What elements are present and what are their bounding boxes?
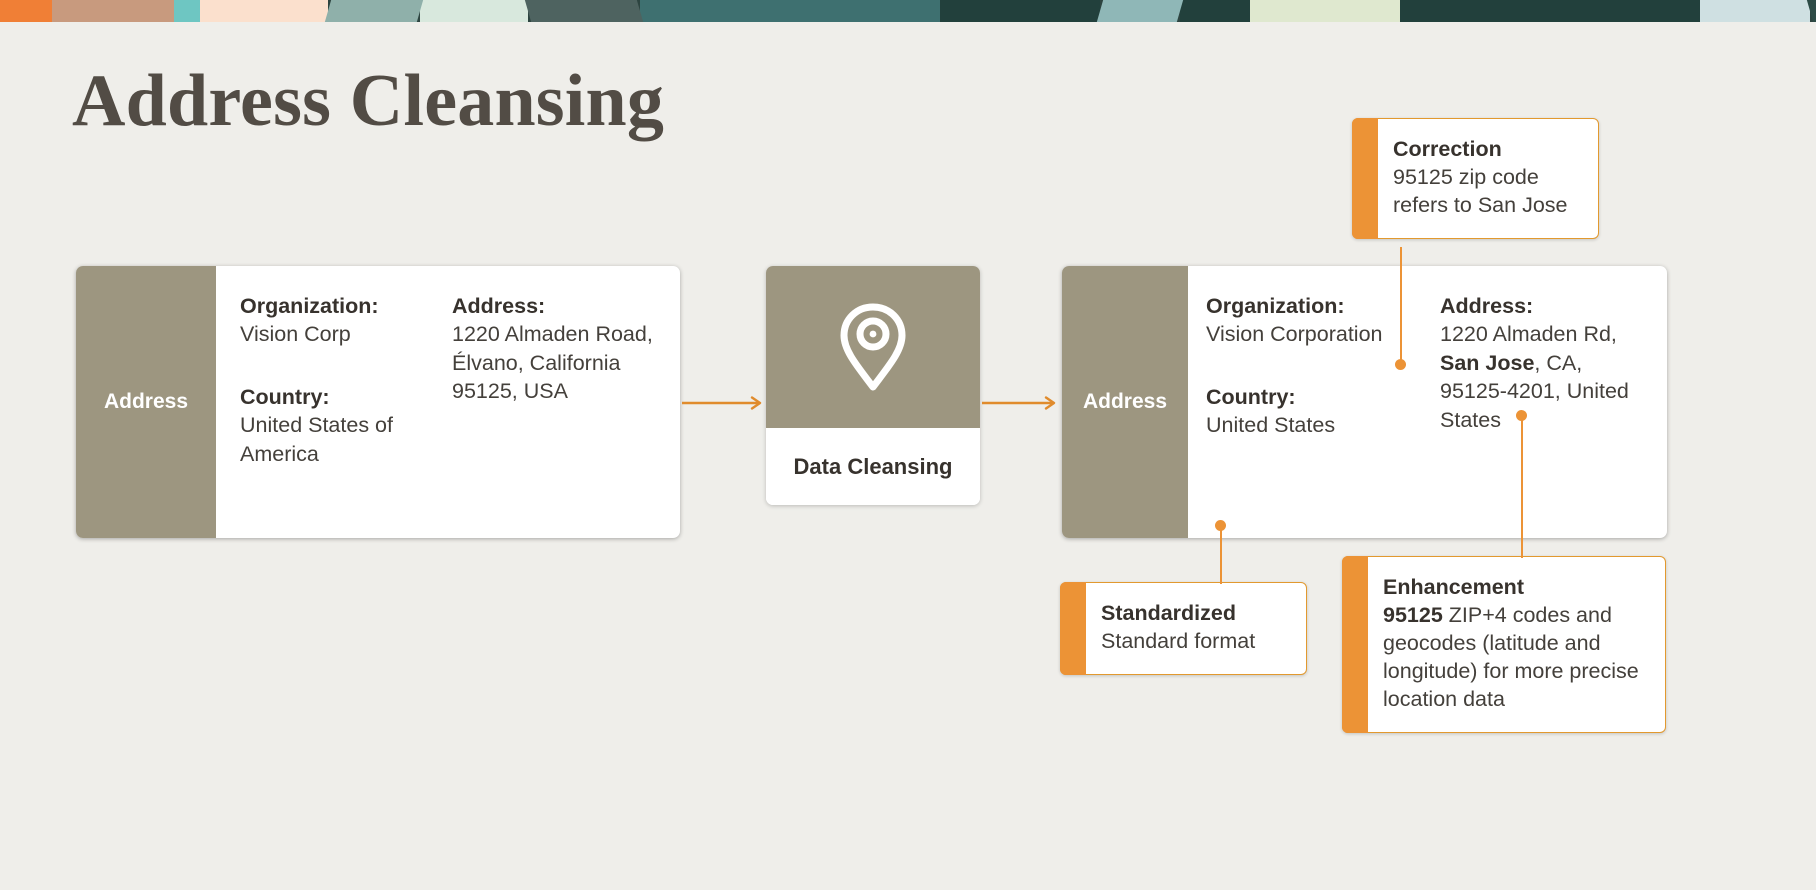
- process-icon-area: [766, 266, 980, 428]
- original-address-line-3: 95125, USA: [452, 377, 668, 405]
- standardized-text: Standardized Standard format: [1061, 583, 1306, 674]
- spacer: [1206, 349, 1426, 383]
- cleansed-address-label: Address:: [1440, 292, 1644, 320]
- decorative-banner: [0, 0, 1816, 22]
- cleansed-address-body: Organization: Vision Corporation Country…: [1188, 266, 1667, 538]
- process-label-area: Data Cleansing: [766, 428, 980, 505]
- original-address-body: Organization: Vision Corp Country: Unite…: [216, 266, 680, 538]
- enhancement-body-zip: 95125: [1383, 603, 1443, 627]
- enhancement-heading: Enhancement: [1383, 574, 1649, 602]
- original-organization-value: Vision Corp: [240, 320, 438, 348]
- cleansed-address-state: , CA,: [1534, 351, 1582, 375]
- spacer: [240, 349, 438, 383]
- banner-segment-12: [1400, 0, 1700, 22]
- cleansed-country-value: United States: [1206, 411, 1426, 439]
- cleansed-organization-value: Vision Corporation: [1206, 320, 1426, 348]
- cleansed-organization-label: Organization:: [1206, 292, 1426, 320]
- cleansed-address-tab: Address: [1062, 266, 1188, 538]
- banner-segment-11: [1250, 0, 1400, 22]
- original-country-value: United States of America: [240, 411, 438, 468]
- standardized-heading: Standardized: [1101, 600, 1290, 628]
- correction-leader-dot: [1395, 359, 1406, 370]
- cleansed-address-column: Address: 1220 Almaden Rd, San Jose, CA, …: [1440, 292, 1658, 538]
- arrow-right-icon: [982, 396, 1060, 410]
- banner-segment-10: [1180, 0, 1250, 22]
- enhancement-text: Enhancement 95125 ZIP+4 codes and geocod…: [1343, 557, 1665, 732]
- cleansed-address-line-2: San Jose, CA,: [1440, 349, 1644, 377]
- banner-segment-5: [420, 0, 528, 22]
- banner-segment-4: [325, 0, 423, 22]
- correction-callout: Correction 95125 zip code refers to San …: [1352, 118, 1599, 239]
- original-address-line-2: Élvano, California: [452, 349, 668, 377]
- original-address-line-1: 1220 Almaden Road,: [452, 320, 668, 348]
- arrow-right-icon: [682, 396, 766, 410]
- correction-body-line-1: 95125 zip code: [1393, 165, 1539, 189]
- original-address-label: Address:: [452, 292, 668, 320]
- banner-segment-6: [525, 0, 643, 22]
- enhancement-leader-line: [1521, 414, 1523, 558]
- cleansed-organization-column: Organization: Vision Corporation Country…: [1206, 292, 1440, 538]
- cleansed-address-line-4: States: [1440, 406, 1644, 434]
- page-title: Address Cleansing: [72, 64, 664, 138]
- cleansed-address-city: San Jose: [1440, 351, 1534, 375]
- standardized-callout: Standardized Standard format: [1060, 582, 1307, 675]
- flow-arrow-original-to-process: [682, 396, 766, 410]
- map-pin-icon: [835, 299, 911, 395]
- enhancement-leader-dot: [1516, 410, 1527, 421]
- flow-arrow-process-to-cleansed: [982, 396, 1060, 410]
- banner-segment-2: [174, 0, 200, 22]
- standardized-leader-line: [1220, 524, 1222, 584]
- original-address-column: Address: 1220 Almaden Road, Élvano, Cali…: [452, 292, 680, 538]
- correction-text: Correction 95125 zip code refers to San …: [1353, 119, 1598, 238]
- enhancement-callout: Enhancement 95125 ZIP+4 codes and geocod…: [1342, 556, 1666, 733]
- correction-body-line-2: refers to San Jose: [1393, 193, 1567, 217]
- cleansed-address-card: Address Organization: Vision Corporation…: [1062, 266, 1667, 538]
- process-label: Data Cleansing: [794, 454, 953, 480]
- cleansed-address-line-3: 95125-4201, United: [1440, 377, 1644, 405]
- banner-segment-1: [52, 0, 174, 22]
- banner-segment-0: [0, 0, 52, 22]
- banner-segment-13: [1700, 0, 1810, 22]
- cleansed-country-label: Country:: [1206, 383, 1426, 411]
- original-address-card: Address Organization: Vision Corp Countr…: [76, 266, 680, 538]
- original-country-label: Country:: [240, 383, 438, 411]
- standardized-leader-dot: [1215, 520, 1226, 531]
- correction-leader-line: [1400, 247, 1402, 364]
- banner-segment-3: [200, 0, 328, 22]
- original-organization-label: Organization:: [240, 292, 438, 320]
- original-address-tab: Address: [76, 266, 216, 538]
- data-cleansing-process-card: Data Cleansing: [766, 266, 980, 505]
- original-organization-column: Organization: Vision Corp Country: Unite…: [240, 292, 452, 538]
- correction-heading: Correction: [1393, 136, 1582, 164]
- standardized-body: Standard format: [1101, 629, 1255, 653]
- banner-segment-7: [640, 0, 940, 22]
- banner-segment-9: [1097, 0, 1183, 22]
- banner-segment-8: [940, 0, 1100, 22]
- cleansed-address-line-1: 1220 Almaden Rd,: [1440, 320, 1644, 348]
